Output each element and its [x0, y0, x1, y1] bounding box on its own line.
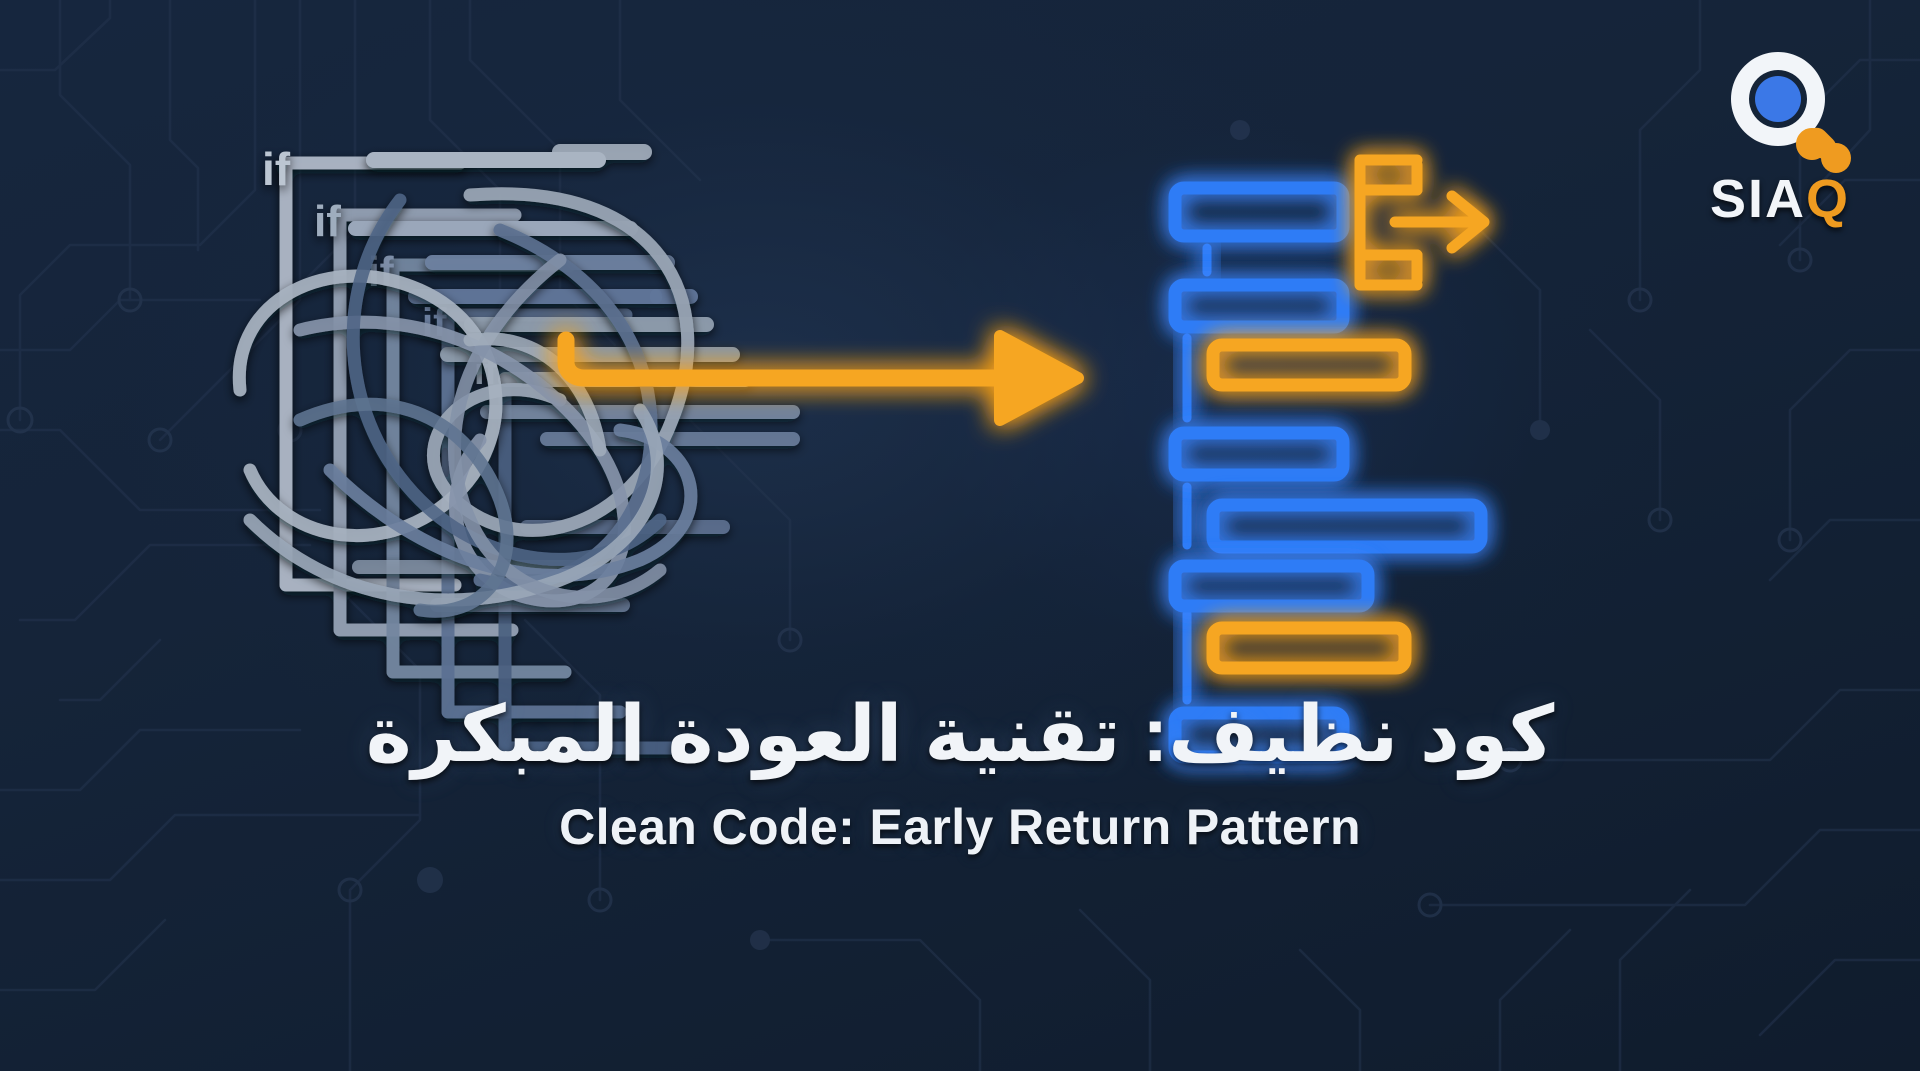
- code-bar-blue: [1213, 505, 1481, 547]
- poster-canvas: if if if if if: [0, 0, 1920, 1071]
- code-bar-blue: [1175, 433, 1343, 475]
- logo-wordmark-primary: SIA: [1710, 169, 1806, 229]
- code-bar-blue: [1175, 566, 1368, 606]
- early-return-exit-icon: [1360, 160, 1484, 285]
- code-bar-stack: [1175, 188, 1481, 757]
- code-bar-blue: [1175, 285, 1343, 327]
- siaq-logo[interactable]: SIAQ: [1690, 40, 1870, 230]
- logo-wordmark-accent: Q: [1806, 169, 1850, 229]
- page-title-english: Clean Code: Early Return Pattern: [0, 798, 1920, 856]
- page-title-arabic: كود نظيف: تقنية العودة المبكرة: [0, 690, 1920, 780]
- code-bar-orange: [1213, 628, 1405, 668]
- clean-code-illustration: [0, 0, 1920, 1071]
- logo-wordmark: SIAQ: [1690, 168, 1870, 230]
- q-magnifier-mark: [1690, 40, 1870, 180]
- code-bar-blue: [1175, 188, 1343, 236]
- code-bar-orange: [1213, 345, 1405, 385]
- title-block: كود نظيف: تقنية العودة المبكرة Clean Cod…: [0, 690, 1920, 856]
- logo-inner-circle: [1755, 76, 1801, 122]
